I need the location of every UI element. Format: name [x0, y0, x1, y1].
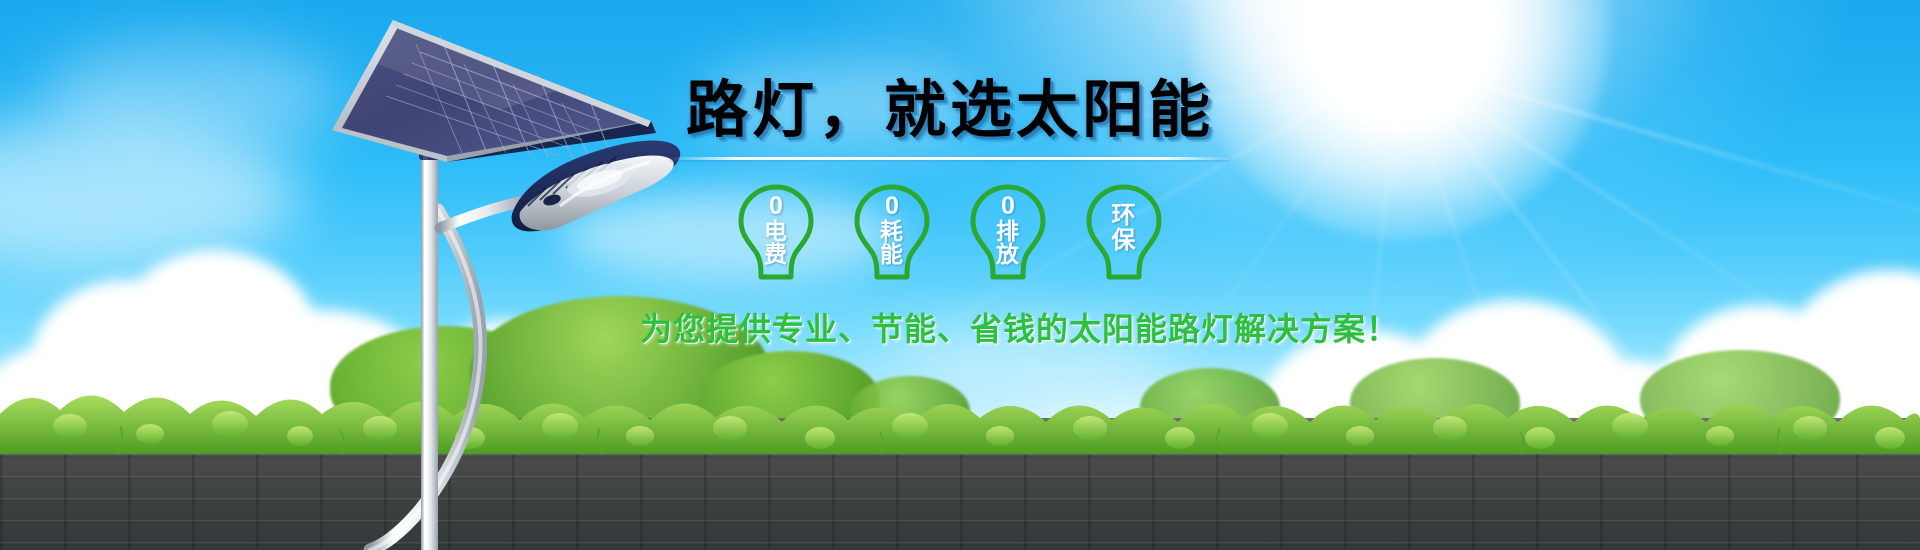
badge-number: 0	[965, 194, 1051, 220]
badge-number: 0	[733, 194, 819, 220]
badge-number: 0	[849, 194, 935, 220]
badge-label-line1: 电	[733, 220, 819, 243]
ivy-vines	[0, 374, 1920, 454]
page-title: 路灯，就选太阳能	[640, 78, 1260, 143]
badge-label-line1: 排	[965, 220, 1051, 243]
badge-text: 0 排 放	[965, 194, 1051, 266]
badge-energy-use: 0 耗 能	[849, 182, 935, 286]
badge-eco: 环 保	[1081, 182, 1167, 286]
subtitle-text: 为您提供专业、节能、省钱的太阳能路灯解决方案！	[640, 304, 1260, 350]
badge-text: 0 电 费	[733, 194, 819, 266]
feature-badge-list: 0 电 费 0 耗 能 0	[640, 182, 1260, 286]
badge-text: 环 保	[1081, 204, 1167, 253]
marketing-copy: 路灯，就选太阳能 0 电 费 0 耗 能	[640, 78, 1260, 350]
badge-label-line1: 耗	[849, 220, 935, 243]
ivy-svg	[0, 374, 1920, 454]
badge-text: 0 耗 能	[849, 194, 935, 266]
badge-label-line2: 保	[1081, 229, 1167, 253]
hero-banner: 路灯，就选太阳能 0 电 费 0 耗 能	[0, 0, 1920, 550]
badge-emission: 0 排 放	[965, 182, 1051, 286]
badge-label-line2: 费	[733, 243, 819, 266]
badge-label-line2: 能	[849, 243, 935, 266]
badge-label-line1: 环	[1081, 204, 1167, 228]
title-divider	[670, 157, 1230, 160]
badge-electric-fee: 0 电 费	[733, 182, 819, 286]
badge-label-line2: 放	[965, 243, 1051, 266]
